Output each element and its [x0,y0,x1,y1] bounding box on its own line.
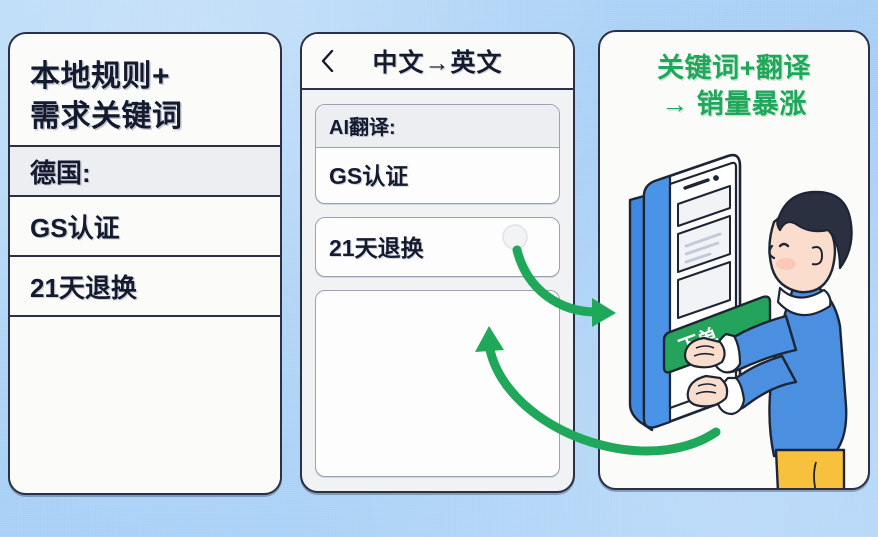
rules-row-return-label: 21天退换 [30,268,137,305]
translate-body: AI翻译: GS认证 21天退换 [302,90,573,491]
local-rules-heading: 本地规则+ 需求关键词 [10,34,280,147]
rules-empty-area [10,317,280,491]
translate-card-return-value: 21天退换 [316,218,559,276]
local-rules-heading-line1: 本地规则+ [30,57,260,97]
result-heading-line2: → 销量暴涨 [610,86,858,122]
chevron-left-icon[interactable] [316,48,338,74]
poster-stage: 本地规则+ 需求关键词 德国: GS认证 21天退换 中文→英文 AI翻译: [0,0,878,537]
translate-card-ai[interactable]: AI翻译: GS认证 [315,104,560,204]
result-heading-line1: 关键词+翻译 [610,50,858,86]
rules-row-country-label: 德国: [30,153,91,190]
result-panel: 关键词+翻译 → 销量暴涨 [598,30,870,490]
local-rules-panel: 本地规则+ 需求关键词 德国: GS认证 21天退换 [8,32,282,495]
rules-row-gs-label: GS认证 [30,208,120,245]
translate-title: 中文→英文 [302,43,573,79]
rules-row-country[interactable]: 德国: [10,147,280,197]
translate-header: 中文→英文 [302,34,573,90]
translate-card-return[interactable]: 21天退换 [315,217,560,277]
result-heading: 关键词+翻译 → 销量暴涨 [600,32,868,128]
local-rules-heading-line2: 需求关键词 [30,97,260,137]
rules-row-gs[interactable]: GS认证 [10,197,280,257]
translate-card-empty[interactable] [315,290,560,477]
rules-row-return[interactable]: 21天退换 [10,257,280,317]
translate-panel: 中文→英文 AI翻译: GS认证 21天退换 [300,32,575,493]
person-tapping-phone-illustration: 下单 [600,150,868,490]
translate-card-ai-label: AI翻译: [316,105,559,148]
translate-card-ai-value: GS认证 [316,148,559,203]
